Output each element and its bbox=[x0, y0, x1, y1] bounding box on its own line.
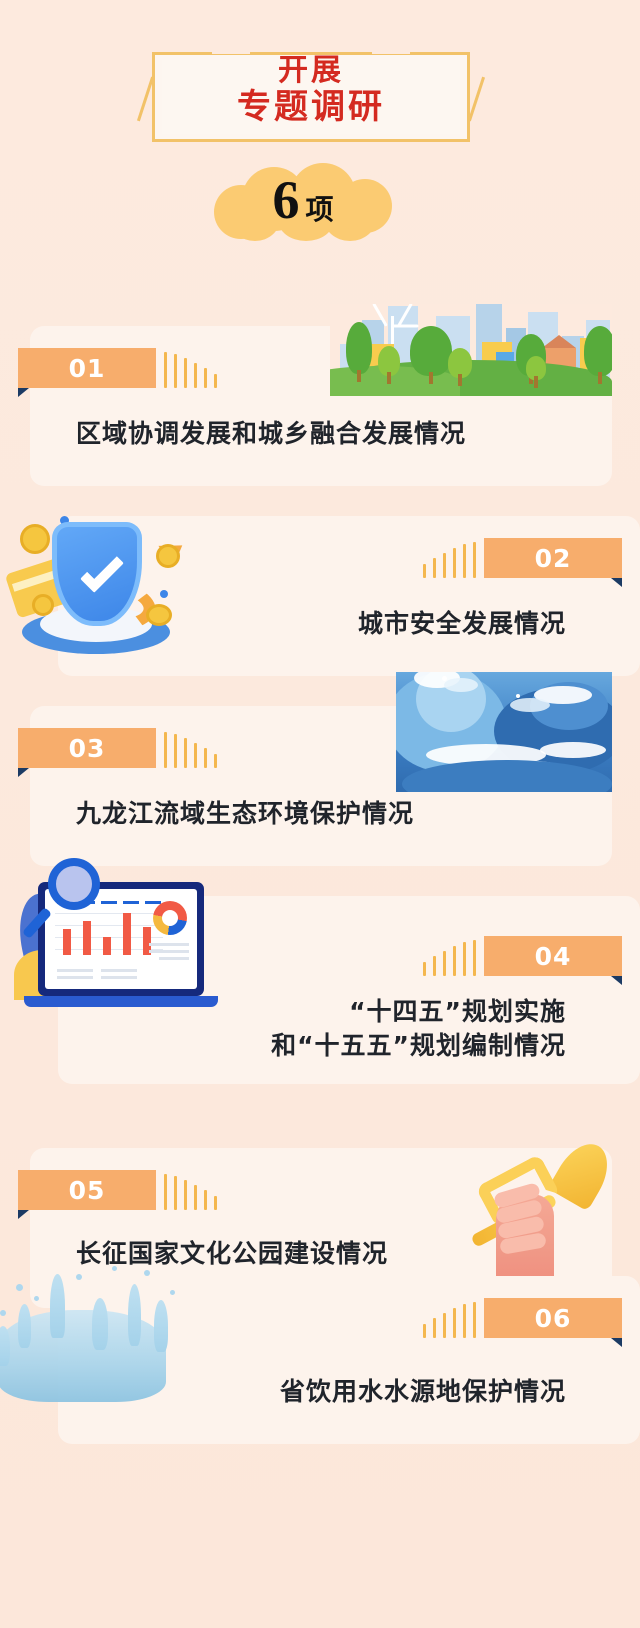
item-number-badge[interactable]: 05 bbox=[18, 1170, 156, 1210]
laptop-analytics-illustration bbox=[20, 854, 226, 1022]
item-number: 06 bbox=[535, 1304, 572, 1333]
item-caption: 城市安全发展情况 bbox=[358, 608, 566, 640]
tick-marks-icon bbox=[164, 728, 217, 768]
title-line-1: 开展 bbox=[152, 54, 470, 88]
trumpet-icon bbox=[548, 1135, 619, 1212]
page-title: 开展 专题调研 bbox=[152, 54, 470, 127]
donut-chart-icon bbox=[153, 901, 187, 935]
list-item[interactable]: 03 九龙江流域生态环境保护情况 bbox=[0, 706, 640, 870]
city-illustration bbox=[330, 304, 612, 396]
frame-gap-right bbox=[372, 47, 410, 54]
item-caption: “十四五”规划实施 bbox=[349, 996, 566, 1028]
shield-security-illustration bbox=[6, 508, 186, 656]
tick-marks-icon bbox=[423, 936, 476, 976]
item-number: 03 bbox=[69, 734, 106, 763]
coin-icon bbox=[20, 524, 50, 554]
item-number: 02 bbox=[535, 544, 572, 573]
tree-icon bbox=[346, 322, 372, 374]
count-badge: 6 项 bbox=[212, 163, 394, 241]
tick-marks-icon bbox=[423, 538, 476, 578]
item-caption-line2: 和“十五五”规划编制情况 bbox=[271, 1030, 566, 1062]
title-banner: 开展 专题调研 bbox=[152, 52, 470, 142]
ocean-waves-illustration bbox=[396, 672, 612, 792]
water-splash-illustration bbox=[0, 1240, 194, 1440]
item-caption: 省饮用水水源地保护情况 bbox=[280, 1376, 566, 1408]
item-number: 04 bbox=[535, 942, 572, 971]
list-item[interactable]: 04 “十四五”规划实施 和“十五五”规划编制情况 bbox=[0, 896, 640, 1088]
item-number: 01 bbox=[69, 354, 106, 383]
count-unit: 项 bbox=[305, 188, 333, 228]
item-caption: 区域协调发展和城乡融合发展情况 bbox=[76, 418, 466, 450]
count-text: 6 项 bbox=[212, 163, 394, 241]
item-number-badge[interactable]: 03 bbox=[18, 728, 156, 768]
tick-marks-icon bbox=[164, 348, 217, 388]
list-item[interactable]: 05 长征国家文化公园建设情况 bbox=[0, 1086, 640, 1250]
magnifier-icon bbox=[48, 858, 100, 910]
item-number-badge[interactable]: 06 bbox=[484, 1298, 622, 1338]
count-number: 6 bbox=[272, 173, 299, 227]
decor-slash-right-icon bbox=[468, 77, 485, 122]
list-item[interactable]: 01 区域协调发展和城乡融合发展情况 bbox=[0, 326, 640, 490]
item-caption: 九龙江流域生态环境保护情况 bbox=[76, 798, 414, 830]
list-item[interactable]: 06 省饮用水水源地保护情况 bbox=[0, 1276, 640, 1448]
item-number-badge[interactable]: 04 bbox=[484, 936, 622, 976]
infographic-page: 开展 专题调研 6 项 bbox=[0, 0, 640, 1628]
item-number-badge[interactable]: 01 bbox=[18, 348, 156, 388]
item-number-badge[interactable]: 02 bbox=[484, 538, 622, 578]
list-item[interactable]: 02 城市安全发展情况 bbox=[0, 516, 640, 680]
item-number: 05 bbox=[69, 1176, 106, 1205]
frame-gap-left bbox=[212, 47, 250, 54]
tick-marks-icon bbox=[164, 1170, 217, 1210]
tick-marks-icon bbox=[423, 1298, 476, 1338]
title-line-2: 专题调研 bbox=[152, 88, 470, 127]
check-icon bbox=[80, 549, 124, 593]
